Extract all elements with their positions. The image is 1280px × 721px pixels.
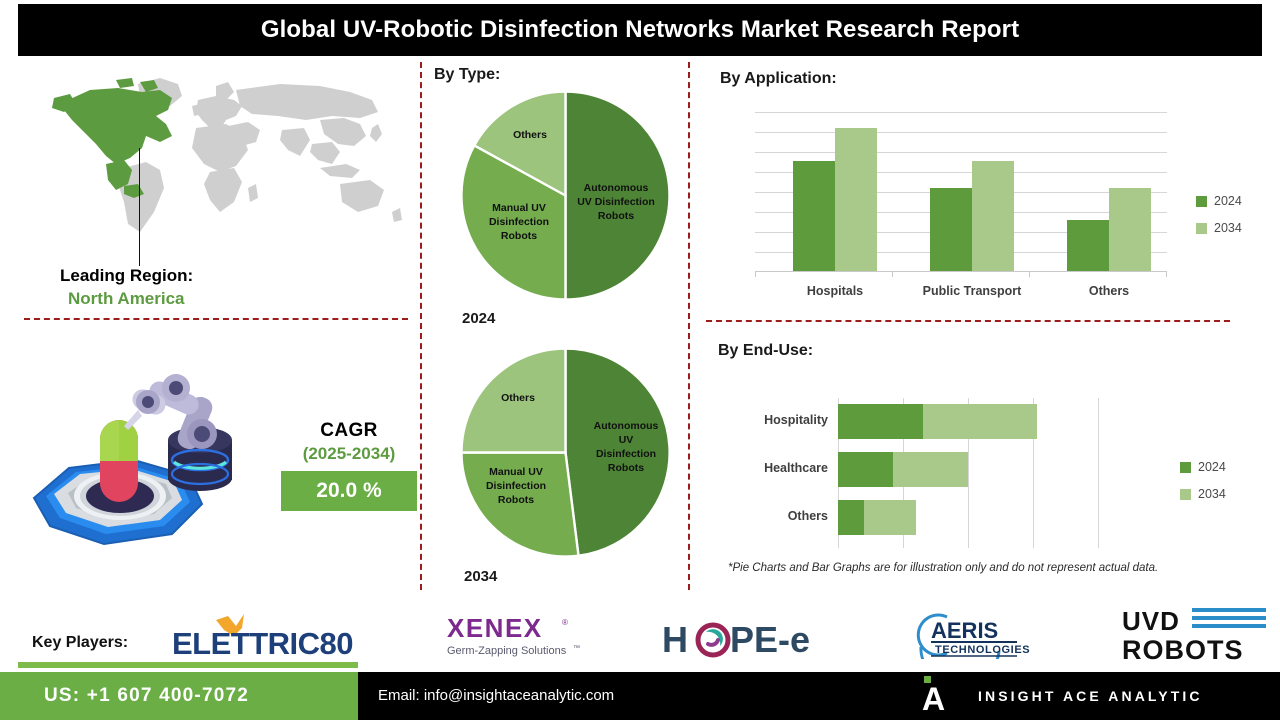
footer-email[interactable]: Email: info@insightaceanalytic.com — [378, 687, 614, 704]
category-label-hospitals: Hospitals — [765, 284, 905, 298]
legend-label-2024: 2024 — [1198, 460, 1226, 474]
bar-hospitals-2024 — [793, 161, 835, 271]
chart-footnote: *Pie Charts and Bar Graphs are for illus… — [728, 562, 1158, 574]
enduse-legend: 2024 2034 — [1180, 460, 1226, 514]
robot-illustration — [24, 348, 274, 563]
insight-ace-logo-icon: A — [918, 676, 958, 716]
cagr-period: (2025-2034) — [281, 444, 417, 464]
application-bar-chart: Hospitals Public Transport Others — [755, 112, 1167, 272]
world-map — [20, 72, 410, 262]
by-enduse-title: By End-Use: — [718, 342, 813, 360]
enduse-label-others: Others — [708, 509, 828, 523]
pie-2024-label-others: Others — [482, 129, 578, 143]
legend-swatch-2024 — [1180, 462, 1191, 473]
svg-text:H: H — [662, 619, 688, 660]
enduse-seg-hospitality-2024 — [838, 404, 923, 439]
svg-text:ROBOTS: ROBOTS — [1122, 635, 1244, 663]
svg-text:®: ® — [562, 618, 568, 627]
map-pointer-line — [139, 148, 140, 266]
axis-tick — [1166, 271, 1167, 277]
pie-2024-label-manual: Manual UV Disinfection Robots — [471, 202, 567, 244]
logo-elettric80: ELETTRIC80 — [172, 612, 372, 660]
legend-label-2034: 2034 — [1214, 221, 1242, 235]
legend-item-2024: 2024 — [1196, 194, 1242, 208]
pie-2034-year: 2034 — [464, 568, 497, 585]
enduse-seg-others-2024 — [838, 500, 864, 535]
legend-item-2024: 2024 — [1180, 460, 1226, 474]
axis-tick — [755, 271, 756, 277]
svg-text:ELETTRIC80: ELETTRIC80 — [172, 626, 353, 660]
legend-swatch-2034 — [1196, 223, 1207, 234]
logo-xenex: XENEX ® Germ-Zapping Solutions ™ — [447, 613, 592, 659]
enduse-seg-healthcare-2024 — [838, 452, 893, 487]
enduse-seg-hospitality-2034 — [923, 404, 1037, 439]
footer-phone[interactable]: US: +1 607 400-7072 — [44, 685, 249, 707]
enduse-seg-healthcare-2034 — [893, 452, 968, 487]
bar-public-transport-2024 — [930, 188, 972, 271]
bar-others-2024 — [1067, 220, 1109, 271]
enduse-row-hospitality — [838, 404, 1100, 439]
gridline — [755, 152, 1167, 153]
legend-item-2034: 2034 — [1196, 221, 1242, 235]
axis-tick — [1029, 271, 1030, 277]
svg-text:™: ™ — [573, 645, 580, 652]
logo-uvd-robots: UVD ROBOTS — [1122, 605, 1270, 663]
cagr-value: 20.0 % — [281, 471, 417, 511]
cagr-block: CAGR (2025-2034) 20.0 % — [281, 420, 417, 511]
svg-text:Germ-Zapping Solutions: Germ-Zapping Solutions — [447, 645, 567, 657]
divider-vertical-left — [420, 62, 422, 590]
footer-bar: US: +1 607 400-7072 Email: info@insighta… — [0, 672, 1280, 720]
pie-2034-label-others: Others — [470, 392, 566, 406]
key-players-label: Key Players: — [32, 634, 128, 652]
legend-swatch-2024 — [1196, 196, 1207, 207]
pie-2024-label-autonomous: Autonomous UV Disinfection Robots — [568, 182, 664, 224]
footer-brand-name: INSIGHT ACE ANALYTIC — [978, 688, 1203, 704]
svg-text:XENEX: XENEX — [447, 613, 543, 643]
divider-horizontal-right — [706, 320, 1230, 322]
by-application-title: By Application: — [720, 70, 837, 88]
legend-swatch-2034 — [1180, 489, 1191, 500]
divider-vertical-middle — [688, 62, 690, 590]
category-label-public-transport: Public Transport — [902, 284, 1042, 298]
pie-2024-year: 2024 — [462, 310, 495, 327]
x-axis — [755, 271, 1167, 272]
pie-2034-label-manual: Manual UV Disinfection Robots — [468, 466, 564, 508]
enduse-bar-chart — [838, 398, 1100, 548]
header-bar: Global UV-Robotic Disinfection Networks … — [18, 4, 1262, 56]
bar-hospitals-2034 — [835, 128, 877, 271]
axis-tick — [892, 271, 893, 277]
leading-region-label: Leading Region: — [60, 266, 193, 286]
pie-2034-label-autonomous: Autonomous UV Disinfection Robots — [578, 420, 674, 475]
bar-public-transport-2034 — [972, 161, 1014, 271]
logo-hope-e: H PE-e — [662, 616, 832, 660]
logo-aeris: AERIS TECHNOLOGIES — [905, 611, 1045, 659]
by-type-title: By Type: — [434, 66, 500, 84]
gridline — [755, 132, 1167, 133]
footer-accent-strip — [18, 662, 358, 668]
gridline — [755, 112, 1167, 113]
legend-label-2024: 2024 — [1214, 194, 1242, 208]
enduse-row-healthcare — [838, 452, 1100, 487]
legend-label-2034: 2034 — [1198, 487, 1226, 501]
legend-item-2034: 2034 — [1180, 487, 1226, 501]
page-title: Global UV-Robotic Disinfection Networks … — [261, 16, 1019, 44]
enduse-row-others — [838, 500, 1100, 535]
infographic-page: Global UV-Robotic Disinfection Networks … — [0, 0, 1280, 720]
leading-region-value: North America — [68, 289, 185, 309]
cagr-title: CAGR — [281, 420, 417, 442]
application-legend: 2024 2034 — [1196, 194, 1242, 248]
svg-text:PE-e: PE-e — [730, 619, 810, 660]
category-label-others: Others — [1039, 284, 1179, 298]
bar-others-2034 — [1109, 188, 1151, 271]
svg-text:A: A — [922, 681, 945, 716]
divider-horizontal-left — [24, 318, 408, 320]
enduse-label-healthcare: Healthcare — [708, 461, 828, 475]
enduse-seg-others-2034 — [864, 500, 916, 535]
enduse-label-hospitality: Hospitality — [708, 413, 828, 427]
svg-text:TECHNOLOGIES: TECHNOLOGIES — [935, 644, 1030, 656]
svg-text:UVD: UVD — [1122, 606, 1180, 636]
svg-text:AERIS: AERIS — [931, 618, 998, 643]
